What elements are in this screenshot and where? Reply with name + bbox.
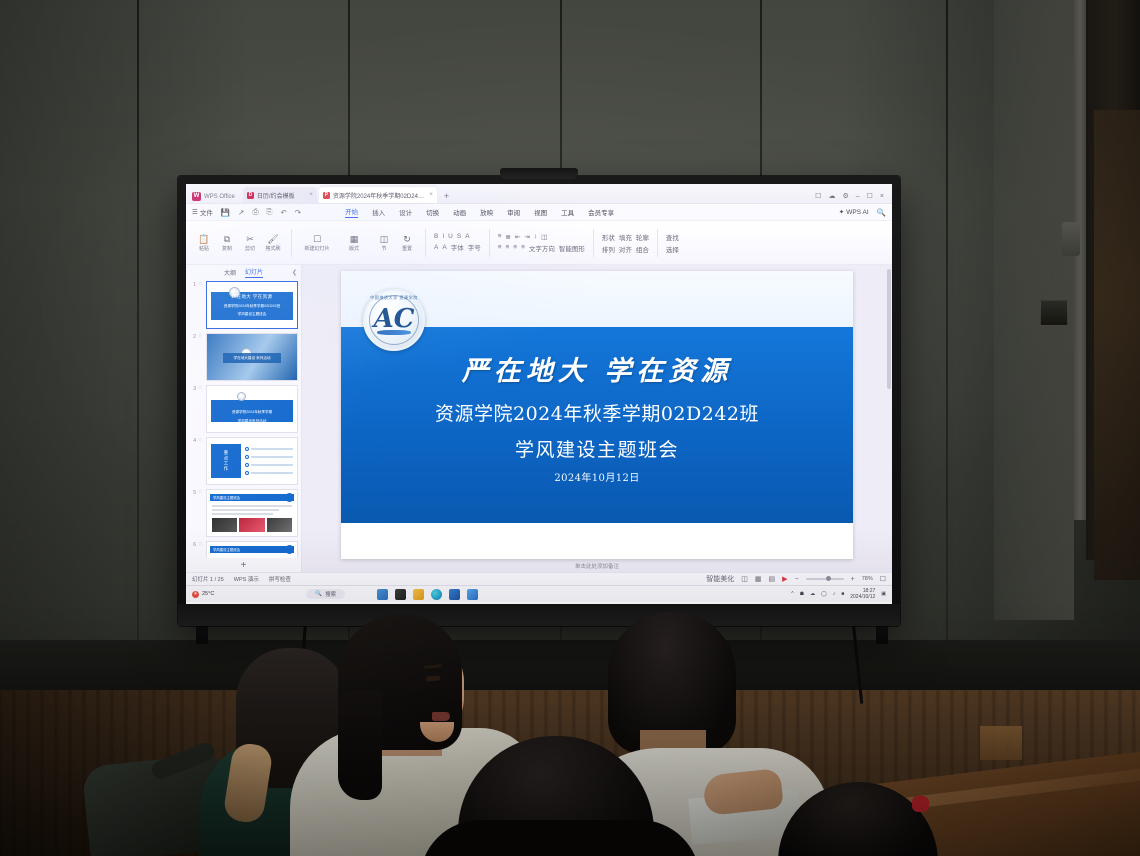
bullets-button[interactable]: ≡ bbox=[498, 233, 502, 240]
notes-placeholder[interactable]: 单击此处添加备注 bbox=[575, 562, 619, 570]
reset-label: 重置 bbox=[402, 245, 412, 252]
bullet-dot-icon bbox=[245, 463, 249, 467]
placeholder-bar bbox=[212, 509, 279, 511]
file-menu-label: 文件 bbox=[200, 207, 213, 217]
thumb-subtitle2: 学风建设主题班会 bbox=[207, 312, 297, 317]
taskbar-search[interactable]: 🔍 搜索 bbox=[306, 589, 345, 599]
editing-row-1: 查找 bbox=[666, 232, 679, 242]
ai-sparkle-icon: ✦ bbox=[839, 208, 844, 216]
cloud-icon[interactable]: ☁ bbox=[828, 192, 835, 200]
undo-icon[interactable]: ↶ bbox=[280, 208, 286, 217]
print-preview-icon[interactable]: ↗ bbox=[238, 208, 244, 217]
document-tab-1[interactable]: P 资源学院2024年秋季学期02D242班学风建设主题班会.pptx × bbox=[319, 187, 437, 203]
ribbon-tab-transition[interactable]: 切换 bbox=[426, 207, 439, 218]
thumbnail-item[interactable]: 2 ☆ 学在地大建设 系列活动 bbox=[189, 333, 298, 381]
underline-button[interactable]: U bbox=[448, 233, 453, 240]
settings-icon[interactable]: ⚙ bbox=[842, 192, 848, 200]
weather-widget[interactable]: ☀ 25°C bbox=[192, 591, 214, 598]
thumb-image bbox=[267, 518, 292, 532]
wood-accent-panel bbox=[980, 726, 1022, 760]
smartart-button[interactable]: 智能图形 bbox=[559, 243, 585, 253]
file-menu-button[interactable]: ☰ 文件 bbox=[192, 207, 213, 217]
list-item bbox=[245, 471, 293, 475]
classroom-photo-scene: W WPS Office D 日历/约会模板 × P 资源学院2024年秋季学期… bbox=[0, 0, 1140, 856]
thumbnail-pane-tabs: 大纲 幻灯片 ❮ bbox=[186, 265, 301, 279]
slides-group: ☐ 新建幻灯片 ▦ 版式 ◫ 节 ↻ 重置 bbox=[297, 223, 420, 263]
editing-controls: 查找 选择 bbox=[666, 232, 679, 254]
copy-label: 复制 bbox=[222, 245, 232, 252]
task-view-icon[interactable] bbox=[395, 589, 406, 600]
volume-icon[interactable]: ♪ bbox=[833, 591, 836, 597]
paragraph-row-1: ≡ ≣ ⇤ ⇥ ↕ ◫ bbox=[498, 233, 585, 241]
thumbnail-index: 5 bbox=[189, 489, 196, 496]
canvas-scrollbar[interactable] bbox=[887, 269, 891, 389]
wood-wainscot-shadow bbox=[0, 690, 250, 856]
bullet-dot-icon bbox=[245, 447, 249, 451]
section-icon: ◫ bbox=[380, 234, 389, 244]
slide-counter: 幻灯片 1 / 25 bbox=[192, 575, 224, 583]
find-button[interactable]: 查找 bbox=[666, 232, 679, 242]
thumbnail-index: 1 bbox=[189, 281, 196, 288]
ribbon-tab-slideshow[interactable]: 放映 bbox=[480, 207, 493, 218]
thumb-decoration-circle bbox=[285, 545, 294, 554]
reset-icon: ↻ bbox=[403, 234, 411, 244]
wps-brand-label: WPS Office bbox=[204, 194, 235, 200]
display-bottom-bezel bbox=[178, 604, 900, 626]
thumbnail-index: 3 bbox=[189, 385, 196, 392]
bullet-dot-icon bbox=[245, 471, 249, 475]
cut-icon: ✂ bbox=[246, 234, 254, 244]
placeholder-bar bbox=[251, 464, 293, 466]
close-icon[interactable]: × bbox=[429, 192, 433, 198]
paste-icon: 📋 bbox=[198, 234, 209, 244]
thumbnail-list: 1 ☆ 严在地大 学在资源 资源学院2024年秋季学期02D242班 学风建设主… bbox=[186, 279, 301, 558]
copy-button[interactable]: ⧉ 复制 bbox=[217, 234, 237, 252]
ribbon-tab-design[interactable]: 设计 bbox=[399, 207, 412, 218]
placeholder-bar bbox=[251, 448, 293, 450]
seal-monogram: AC bbox=[374, 306, 415, 332]
minimize-icon[interactable]: – bbox=[856, 193, 860, 200]
outline-button[interactable]: 轮廓 bbox=[636, 232, 649, 242]
arrange-button[interactable]: 排列 bbox=[602, 244, 615, 254]
slide-canvas-area: 中国地质大学 资源学院 AC 严在地大 学在资源 资源学院2024年秋季学期02… bbox=[302, 265, 892, 572]
ribbon-separator bbox=[489, 229, 490, 257]
reset-button[interactable]: ↻ 重置 bbox=[397, 234, 417, 252]
placeholder-bar bbox=[251, 456, 293, 458]
paste-label: 粘贴 bbox=[199, 245, 209, 252]
ribbon-tab-animation[interactable]: 动画 bbox=[453, 207, 466, 218]
display-camera-bar bbox=[500, 168, 578, 179]
thumb-image bbox=[239, 518, 266, 532]
font-group: B I U S A A A 字体 字号 bbox=[431, 223, 484, 263]
zoom-out-button[interactable]: − bbox=[795, 576, 799, 583]
print-setup-icon[interactable]: ⎘ bbox=[266, 207, 272, 217]
thumbnail-preview-2[interactable]: 学在地大建设 系列活动 bbox=[206, 333, 298, 381]
slide-date: 2024年10月12日 bbox=[341, 469, 853, 484]
new-slide-button[interactable]: ☐ 新建幻灯片 bbox=[300, 234, 334, 252]
thumbnail-index: 4 bbox=[189, 437, 196, 444]
slide-thumbnail-pane: 大纲 幻灯片 ❮ 1 ☆ 严在地大 学在资源 bbox=[186, 265, 302, 572]
ime-icon[interactable]: ▣ bbox=[881, 591, 886, 597]
cut-label: 剪切 bbox=[245, 245, 255, 252]
wps-ai-button[interactable]: ✦ WPS AI bbox=[839, 208, 869, 216]
drawing-controls: 形状 填充 轮廓 排列 对齐 组合 bbox=[602, 232, 649, 254]
university-seal-logo: 中国地质大学 资源学院 AC bbox=[363, 289, 425, 351]
font-row-2: A A 字体 字号 bbox=[434, 242, 481, 252]
copy-icon: ⧉ bbox=[224, 234, 230, 244]
star-icon[interactable]: ☆ bbox=[198, 385, 204, 391]
taskbar-clock[interactable]: 18:27 2024/10/12 bbox=[850, 588, 875, 600]
current-slide[interactable]: 中国地质大学 资源学院 AC 严在地大 学在资源 资源学院2024年秋季学期02… bbox=[341, 271, 853, 559]
align-left-button[interactable]: ≡ bbox=[498, 244, 502, 251]
star-icon[interactable]: ☆ bbox=[198, 489, 204, 495]
numbering-button[interactable]: ≣ bbox=[505, 233, 510, 241]
slide-bottom-band bbox=[341, 523, 853, 559]
text-shadow-button[interactable]: A bbox=[465, 233, 469, 240]
columns-button[interactable]: ◫ bbox=[541, 233, 547, 241]
thumb-header-bar: 学风建设主题班会 bbox=[210, 546, 294, 553]
close-icon[interactable]: × bbox=[309, 192, 313, 198]
star-icon[interactable]: ☆ bbox=[198, 541, 204, 547]
align-right-button[interactable]: ≡ bbox=[513, 244, 517, 251]
star-icon[interactable]: ☆ bbox=[198, 333, 204, 339]
fill-button[interactable]: 填充 bbox=[619, 232, 632, 242]
line-spacing-button[interactable]: ↕ bbox=[534, 233, 537, 240]
layout-icon: ▦ bbox=[350, 234, 359, 244]
editor-workspace: 大纲 幻灯片 ❮ 1 ☆ 严在地大 学在资源 bbox=[186, 265, 892, 572]
search-placeholder: 搜索 bbox=[325, 590, 336, 598]
thumb-pill-label: 学在地大建设 系列活动 bbox=[223, 353, 281, 363]
thumb-image-row bbox=[212, 518, 292, 532]
ai-label: WPS AI bbox=[846, 209, 868, 216]
highlight-button[interactable]: A bbox=[442, 244, 446, 251]
thumbnail-item[interactable]: 5 ☆ 学风建设主题班会 bbox=[189, 489, 298, 537]
text-direction-button[interactable]: 文字方向 bbox=[529, 243, 555, 253]
weather-temp: 25°C bbox=[202, 591, 214, 597]
layout-button[interactable]: ▦ 版式 bbox=[337, 234, 371, 252]
zoom-in-button[interactable]: + bbox=[851, 576, 855, 583]
fit-to-window-icon[interactable]: ☐ bbox=[880, 575, 886, 583]
select-button[interactable]: 选择 bbox=[666, 244, 679, 254]
ribbon-separator bbox=[593, 229, 594, 257]
font-color-button[interactable]: A bbox=[434, 244, 438, 251]
network-icon[interactable]: ☁ bbox=[810, 591, 815, 597]
paste-button[interactable]: 📋 粘贴 bbox=[194, 234, 214, 252]
thumb-headline: 严在地大 学在资源 bbox=[207, 294, 297, 300]
thumbnail-preview-1[interactable]: 严在地大 学在资源 资源学院2024年秋季学期02D242班 学风建设主题班会 bbox=[206, 281, 298, 329]
thumbnail-preview-5[interactable]: 学风建设主题班会 bbox=[206, 489, 298, 537]
wall-speaker bbox=[1062, 222, 1080, 256]
font-controls: B I U S A A A 字体 字号 bbox=[434, 233, 481, 252]
zoom-slider[interactable] bbox=[806, 578, 844, 580]
tab-label: 资源学院2024年秋季学期02D242班学风建设主题班会.pptx bbox=[333, 191, 426, 200]
ribbon-tabs: 开始 插入 设计 切换 动画 放映 审阅 视图 工具 会员专享 bbox=[345, 206, 614, 218]
wps-presentation-icon[interactable] bbox=[467, 589, 478, 600]
placeholder-bar bbox=[212, 505, 292, 507]
format-painter-button[interactable]: 🖌 格式刷 bbox=[263, 234, 283, 252]
font-size-selector[interactable]: 字号 bbox=[468, 242, 481, 252]
spellcheck-label[interactable]: 拼写检查 bbox=[269, 575, 291, 583]
microsoft-store-icon[interactable] bbox=[449, 589, 460, 600]
search-icon: 🔍 bbox=[315, 591, 322, 597]
thumbnail-index: 6 bbox=[189, 541, 196, 548]
thumbnail-item[interactable]: 1 ☆ 严在地大 学在资源 资源学院2024年秋季学期02D242班 学风建设主… bbox=[189, 281, 298, 329]
ribbon-tab-review[interactable]: 审阅 bbox=[507, 207, 520, 218]
window-tab-bar: W WPS Office D 日历/约会模板 × P 资源学院2024年秋季学期… bbox=[186, 184, 892, 204]
maximize-icon[interactable]: ☐ bbox=[867, 192, 873, 200]
new-slide-label: 新建幻灯片 bbox=[304, 245, 329, 252]
system-tray: ^ ☗ ☁ ◯ ♪ ■ 18:27 2024/10/12 ▣ bbox=[791, 588, 886, 600]
add-slide-button[interactable]: + bbox=[186, 558, 301, 572]
ribbon-separator bbox=[425, 229, 426, 257]
font-name-selector[interactable]: 字体 bbox=[451, 242, 464, 252]
design-ideas-button[interactable]: 智能美化 bbox=[706, 574, 734, 584]
drawing-row-2: 排列 对齐 组合 bbox=[602, 244, 649, 254]
editing-group: 查找 选择 bbox=[663, 223, 682, 263]
justify-button[interactable]: ≡ bbox=[521, 244, 525, 251]
star-icon[interactable]: ☆ bbox=[198, 281, 204, 287]
strikethrough-button[interactable]: S bbox=[457, 233, 461, 240]
section-button[interactable]: ◫ 节 bbox=[374, 234, 394, 252]
bold-button[interactable]: B bbox=[434, 233, 438, 240]
security-icon[interactable]: ☗ bbox=[800, 591, 804, 597]
windows-start-icon[interactable] bbox=[377, 589, 388, 600]
slide-subtitle-2: 学风建设主题班会 bbox=[341, 435, 853, 462]
tab-label: 日历/约会模板 bbox=[257, 191, 295, 200]
list-item bbox=[245, 463, 293, 467]
zoom-level-label: 78% bbox=[862, 576, 873, 582]
thumbnail-preview-4[interactable]: 重点工作 bbox=[206, 437, 298, 485]
save-icon[interactable]: 💾 bbox=[221, 208, 230, 217]
ppt-icon: P bbox=[323, 192, 330, 199]
ribbon-tab-member[interactable]: 会员专享 bbox=[588, 207, 614, 218]
list-item bbox=[245, 455, 293, 459]
view-reading-icon[interactable]: ▤ bbox=[769, 575, 776, 583]
align-center-button[interactable]: ≡ bbox=[505, 244, 509, 251]
new-slide-icon: ☐ bbox=[313, 234, 321, 244]
search-icon[interactable]: 🔍 bbox=[877, 208, 886, 217]
weather-icon: ☀ bbox=[192, 591, 199, 598]
slide-subtitle: 资源学院2024年秋季学期02D242班 bbox=[341, 399, 853, 426]
thumb-image bbox=[212, 518, 237, 532]
edge-browser-icon[interactable] bbox=[431, 589, 442, 600]
list-item bbox=[245, 447, 293, 451]
thumb-subtitle: 资源学院2024年秋季学期02D242班 bbox=[207, 304, 297, 309]
thumb-side-label: 重点工作 bbox=[211, 444, 241, 478]
placeholder-bar bbox=[212, 513, 273, 515]
wps-logo-icon: W bbox=[192, 192, 201, 201]
outline-tab[interactable]: 大纲 bbox=[224, 268, 236, 277]
ribbon-tab-tools[interactable]: 工具 bbox=[561, 207, 574, 218]
thumb-header-bar: 学风建设主题班会 bbox=[210, 494, 294, 501]
placeholder-bar bbox=[251, 472, 293, 474]
italic-button[interactable]: I bbox=[442, 233, 444, 240]
wifi-icon[interactable]: ◯ bbox=[821, 591, 827, 597]
new-tab-button[interactable]: + bbox=[439, 191, 454, 203]
zoom-slider-handle[interactable] bbox=[826, 576, 831, 581]
format-painter-icon: 🖌 bbox=[267, 234, 278, 244]
document-tab-0[interactable]: D 日历/约会模板 × bbox=[243, 187, 317, 203]
shapes-button[interactable]: 形状 bbox=[602, 232, 615, 242]
align-button[interactable]: 对齐 bbox=[619, 244, 632, 254]
drawing-row-1: 形状 填充 轮廓 bbox=[602, 232, 649, 242]
ribbon-tab-view[interactable]: 视图 bbox=[534, 207, 547, 218]
ribbon-tab-home[interactable]: 开始 bbox=[345, 206, 358, 218]
indent-inc-button[interactable]: ⇥ bbox=[524, 233, 529, 241]
seal-wave-motif bbox=[377, 330, 411, 335]
paragraph-controls: ≡ ≣ ⇤ ⇥ ↕ ◫ ≡ ≡ ≡ ≡ 文字方向 bbox=[498, 233, 585, 253]
ribbon-tab-bar: ☰ 文件 💾 ↗ ⎙ ⎘ ↶ ↷ 开始 插入 设计 切换 动画 放映 审阅 视图 bbox=[186, 204, 892, 221]
taskbar-app-icons bbox=[377, 589, 478, 600]
section-label: 节 bbox=[381, 245, 386, 252]
paragraph-group: ≡ ≣ ⇤ ⇥ ↕ ◫ ≡ ≡ ≡ ≡ 文字方向 bbox=[495, 223, 588, 263]
bullet-dot-icon bbox=[245, 455, 249, 459]
app-mode-label: WPS 演示 bbox=[234, 575, 259, 583]
star-icon[interactable]: ☆ bbox=[198, 437, 204, 443]
show-hidden-icon[interactable]: ^ bbox=[791, 591, 793, 597]
group-button[interactable]: 组合 bbox=[636, 244, 649, 254]
view-sorter-icon[interactable]: ▦ bbox=[755, 575, 762, 583]
paragraph-row-2: ≡ ≡ ≡ ≡ 文字方向 智能图形 bbox=[498, 243, 585, 253]
slide-headline: 严在地大 学在资源 bbox=[341, 349, 853, 388]
hamburger-icon: ☰ bbox=[192, 208, 198, 216]
indent-dec-button[interactable]: ⇤ bbox=[515, 233, 520, 241]
windows-taskbar: ☀ 25°C 🔍 搜索 ^ ☗ bbox=[186, 585, 892, 602]
ribbon-separator bbox=[291, 229, 292, 257]
thumbnail-preview-6[interactable]: 学风建设主题班会 bbox=[206, 541, 298, 558]
wall-outlet bbox=[1040, 300, 1068, 326]
slides-tab[interactable]: 幻灯片 bbox=[245, 267, 263, 278]
sync-icon[interactable]: ☐ bbox=[815, 192, 821, 200]
thumbnail-preview-3[interactable]: 资源学院2024年秋季学期 学风建设系列活动 bbox=[206, 385, 298, 433]
wps-office-window: W WPS Office D 日历/约会模板 × P 资源学院2024年秋季学期… bbox=[186, 184, 892, 604]
chevron-left-icon[interactable]: ❮ bbox=[292, 269, 297, 276]
close-window-icon[interactable]: × bbox=[880, 193, 884, 200]
thumbnail-item[interactable]: 6 ☆ 学风建设主题班会 bbox=[189, 541, 298, 558]
wall-mounted-display: W WPS Office D 日历/约会模板 × P 资源学院2024年秋季学期… bbox=[178, 176, 900, 626]
clock-date: 2024/10/12 bbox=[850, 594, 875, 600]
thumbnail-index: 2 bbox=[189, 333, 196, 340]
drawing-group: 形状 填充 轮廓 排列 对齐 组合 bbox=[599, 223, 652, 263]
doc-icon: D bbox=[247, 192, 254, 199]
print-icon[interactable]: ⎙ bbox=[252, 207, 258, 217]
format-painter-label: 格式刷 bbox=[265, 245, 280, 252]
thumb-list-items bbox=[245, 447, 293, 475]
thumb-subtitle2: 学风建设系列活动 bbox=[207, 419, 297, 424]
battery-icon[interactable]: ■ bbox=[841, 591, 844, 597]
font-row-1: B I U S A bbox=[434, 233, 481, 240]
view-normal-icon[interactable]: ◫ bbox=[741, 575, 748, 583]
ribbon-separator bbox=[657, 229, 658, 257]
editing-row-2: 选择 bbox=[666, 244, 679, 254]
redo-icon[interactable]: ↷ bbox=[295, 208, 301, 217]
status-bar: 幻灯片 1 / 25 WPS 演示 拼写检查 智能美化 ◫ ▦ ▤ ▶ − + … bbox=[186, 572, 892, 585]
ribbon-toolbar: 📋 粘贴 ⧉ 复制 ✂ 剪切 🖌 格式刷 bbox=[186, 221, 892, 265]
view-play-icon[interactable]: ▶ bbox=[782, 575, 787, 583]
cut-button[interactable]: ✂ 剪切 bbox=[240, 234, 260, 252]
thumb-decoration-circle bbox=[285, 493, 294, 502]
titlebar-controls: ☐ ☁ ⚙ – ☐ × bbox=[815, 192, 888, 203]
wps-brand: W WPS Office bbox=[190, 192, 241, 203]
seal-ring-text: 中国地质大学 资源学院 bbox=[365, 295, 423, 301]
clipboard-group: 📋 粘贴 ⧉ 复制 ✂ 剪切 🖌 格式刷 bbox=[191, 223, 286, 263]
thumbnail-item[interactable]: 4 ☆ 重点工作 bbox=[189, 437, 298, 485]
status-bar-right: 智能美化 ◫ ▦ ▤ ▶ − + 78% ☐ bbox=[706, 574, 886, 584]
thumbnail-item[interactable]: 3 ☆ 资源学院2024年秋季学期 学风建设系列活动 bbox=[189, 385, 298, 433]
ribbon-tab-insert[interactable]: 插入 bbox=[372, 207, 385, 218]
file-explorer-icon[interactable] bbox=[413, 589, 424, 600]
university-seal-logo bbox=[237, 392, 246, 401]
ribbon-right-controls: ✦ WPS AI 🔍 bbox=[839, 208, 886, 217]
thumb-subtitle: 资源学院2024年秋季学期 bbox=[207, 410, 297, 415]
layout-label: 版式 bbox=[349, 245, 359, 252]
